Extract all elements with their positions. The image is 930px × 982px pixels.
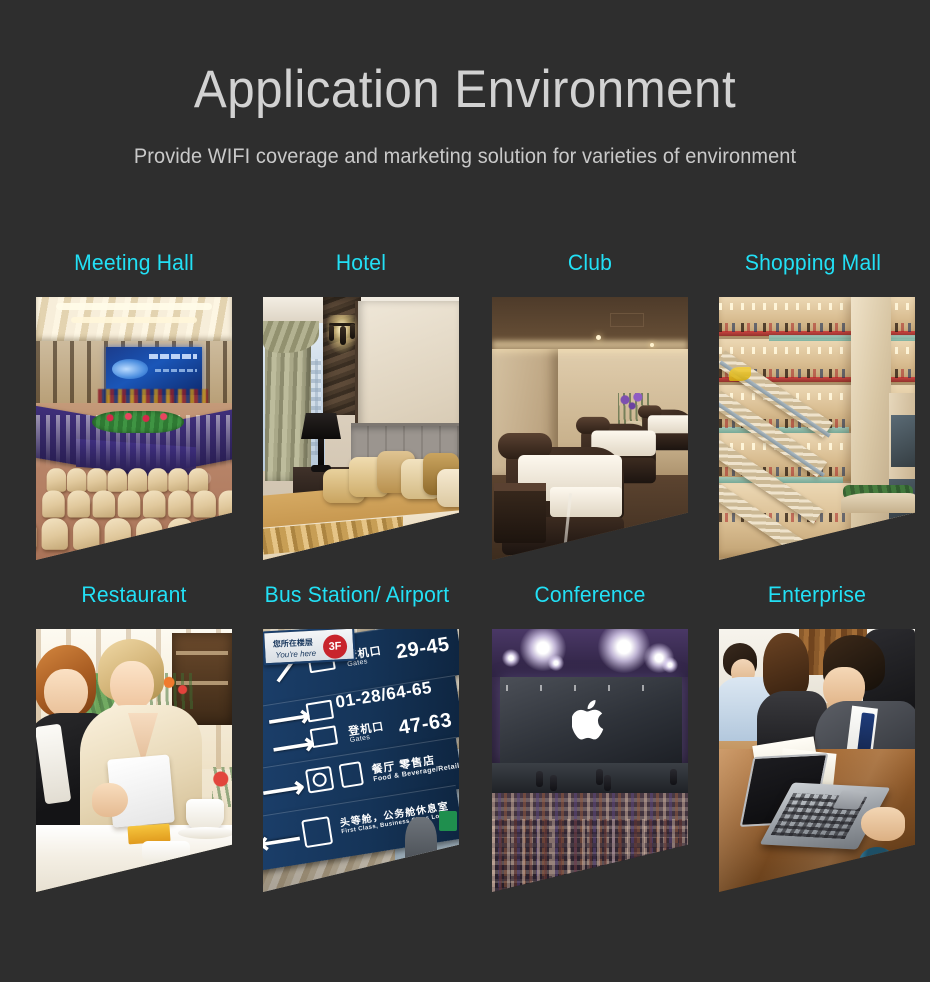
environment-card-club[interactable]: Club bbox=[492, 252, 688, 560]
card-label-conference: Conference bbox=[496, 584, 684, 606]
application-environment-page: Application Environment Provide WIFI cov… bbox=[0, 0, 930, 982]
card-image-shopping-mall bbox=[719, 297, 915, 560]
card-image-restaurant bbox=[36, 629, 232, 892]
you-are-here-cn: 您所在楼层 bbox=[273, 637, 314, 650]
card-label-meeting-hall: Meeting Hall bbox=[40, 252, 228, 274]
card-label-club: Club bbox=[496, 252, 684, 274]
card-label-restaurant: Restaurant bbox=[40, 584, 228, 606]
environment-row-1: Meeting Hall bbox=[0, 252, 930, 584]
card-image-conference bbox=[492, 629, 688, 892]
card-image-hotel bbox=[263, 297, 459, 560]
card-label-enterprise: Enterprise bbox=[723, 584, 911, 606]
environment-card-bus-station-airport[interactable]: Bus Station/ Airport ⟶ 登机口 Gates bbox=[263, 584, 459, 892]
floor-badge: 3F bbox=[322, 634, 347, 659]
sign-gates-bottom-range: 47-63 bbox=[397, 709, 454, 740]
environment-grid: Meeting Hall bbox=[0, 252, 930, 916]
page-subtitle: Provide WIFI coverage and marketing solu… bbox=[23, 145, 907, 169]
page-title: Application Environment bbox=[33, 62, 898, 118]
apple-logo-icon bbox=[572, 698, 610, 742]
environment-row-2: Restaurant bbox=[0, 584, 930, 916]
environment-card-meeting-hall[interactable]: Meeting Hall bbox=[36, 252, 232, 560]
airport-you-are-here-board: 您所在楼层 You're here 3F bbox=[263, 629, 356, 665]
card-image-enterprise bbox=[719, 629, 915, 892]
environment-card-conference[interactable]: Conference bbox=[492, 584, 688, 892]
card-label-bus-station-airport: Bus Station/ Airport bbox=[259, 584, 455, 606]
card-label-shopping-mall: Shopping Mall bbox=[715, 252, 911, 274]
you-are-here-en: You're here bbox=[275, 649, 316, 660]
environment-card-shopping-mall[interactable]: Shopping Mall bbox=[719, 252, 915, 560]
card-label-hotel: Hotel bbox=[267, 252, 455, 274]
environment-card-restaurant[interactable]: Restaurant bbox=[36, 584, 232, 892]
page-header: Application Environment Provide WIFI cov… bbox=[0, 0, 930, 169]
environment-card-hotel[interactable]: Hotel bbox=[263, 252, 459, 560]
card-image-club bbox=[492, 297, 688, 560]
environment-card-enterprise[interactable]: Enterprise bbox=[719, 584, 915, 892]
sign-gates-top-range: 29-45 bbox=[395, 633, 452, 664]
card-image-bus-station-airport: ⟶ 登机口 Gates 29-45 ⟶ 01-28/64-65 ⟶ bbox=[263, 629, 459, 892]
card-image-meeting-hall bbox=[36, 297, 232, 560]
